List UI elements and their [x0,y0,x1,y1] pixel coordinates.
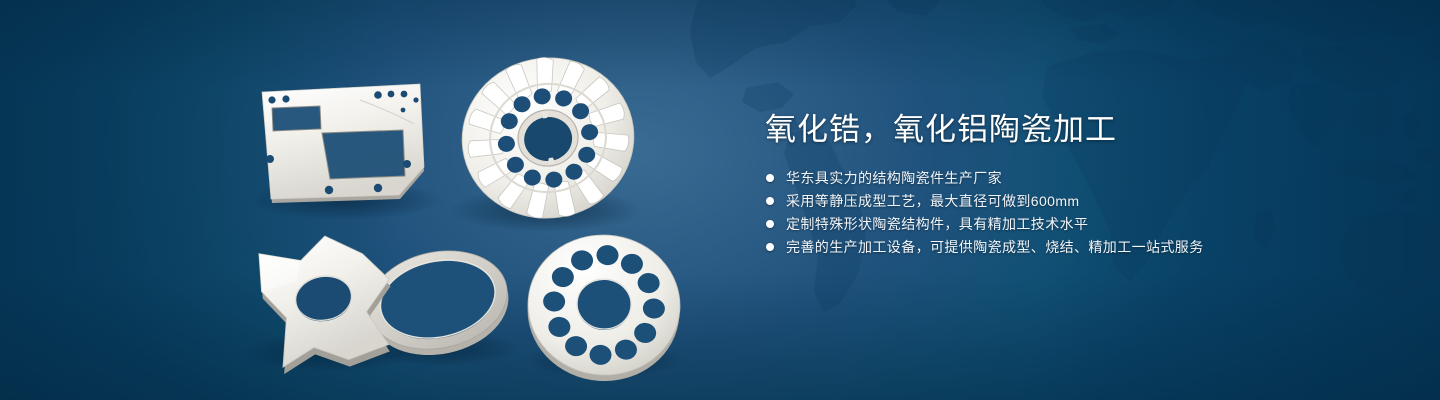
feature-text: 采用等静压成型工艺，最大直径可做到600mm [786,193,1079,209]
bullet-dot-icon [766,243,774,251]
feature-text: 完善的生产加工设备，可提供陶瓷成型、烧结、精加工一站式服务 [786,239,1204,255]
feature-text: 华东具实力的结构陶瓷件生产厂家 [786,170,1002,186]
feature-list: 华东具实力的结构陶瓷件生产厂家 采用等静压成型工艺，最大直径可做到600mm 定… [765,167,1325,259]
banner-copy: 氧化锆，氧化铝陶瓷加工 华东具实力的结构陶瓷件生产厂家 采用等静压成型工艺，最大… [765,110,1325,259]
bullet-dot-icon [766,174,774,182]
ceramic-products-image [0,0,760,400]
bullet-dot-icon [766,220,774,228]
feature-text: 定制特殊形状陶瓷结构件，具有精加工技术水平 [786,216,1088,232]
ceramic-machined-plate [262,84,424,203]
bullet-dot-icon [766,197,774,205]
page-title: 氧化锆，氧化铝陶瓷加工 [765,110,1325,150]
list-item: 完善的生产加工设备，可提供陶瓷成型、烧结、精加工一站式服务 [765,236,1325,259]
list-item: 定制特殊形状陶瓷结构件，具有精加工技术水平 [765,213,1325,236]
list-item: 华东具实力的结构陶瓷件生产厂家 [765,167,1325,190]
promo-banner: 氧化锆，氧化铝陶瓷加工 华东具实力的结构陶瓷件生产厂家 采用等静压成型工艺，最大… [0,0,1440,400]
list-item: 采用等静压成型工艺，最大直径可做到600mm [765,190,1325,213]
